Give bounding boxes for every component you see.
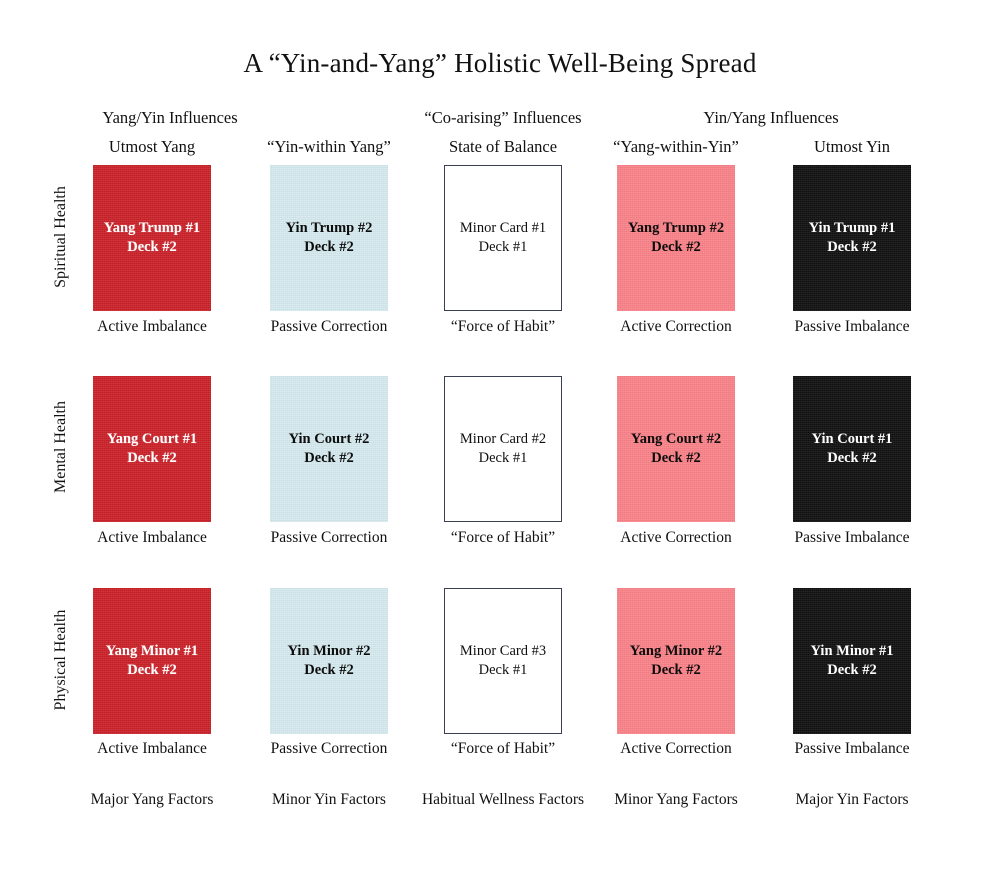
card-line-1: Yang Trump #2	[628, 219, 724, 238]
card-line-1: Yin Minor #2	[288, 642, 371, 661]
column-header-utmost-yin: Utmost Yin	[757, 137, 947, 157]
card-text: Minor Card #1 Deck #1	[457, 219, 549, 256]
footer-habitual-wellness-factors: Habitual Wellness Factors	[415, 790, 591, 811]
card-line-2: Deck #2	[286, 238, 373, 257]
card-physical-state-of-balance[interactable]: Minor Card #3 Deck #1	[444, 588, 562, 734]
card-spiritual-yin-within-yang[interactable]: Yin Trump #2 Deck #2	[270, 165, 388, 311]
card-mental-utmost-yin[interactable]: Yin Court #1 Deck #2	[793, 376, 911, 522]
card-line-2: Deck #2	[809, 238, 896, 257]
card-line-2: Deck #2	[628, 238, 724, 257]
card-line-1: Yin Trump #1	[809, 219, 896, 238]
card-line-1: Yin Minor #1	[811, 642, 894, 661]
footer-major-yang-factors: Major Yang Factors	[57, 790, 247, 811]
caption-spiritual-utmost-yang: Active Imbalance	[57, 318, 247, 336]
card-line-1: Yang Court #1	[107, 430, 197, 449]
footer-major-yin-factors: Major Yin Factors	[757, 790, 947, 811]
group-header-row: Yang/Yin Influences “Co-arising” Influen…	[0, 108, 1000, 128]
card-text: Yang Minor #2 Deck #2	[627, 642, 725, 679]
card-line-2: Deck #2	[811, 661, 894, 680]
card-line-1: Minor Card #1	[460, 219, 546, 238]
card-text: Yin Court #1 Deck #2	[809, 430, 896, 467]
caption-mental-state-of-balance: “Force of Habit”	[408, 529, 598, 547]
card-text: Yang Trump #1 Deck #2	[101, 219, 203, 256]
column-header-row: Utmost Yang “Yin-within Yang” State of B…	[0, 137, 1000, 159]
card-text: Yang Trump #2 Deck #2	[625, 219, 727, 256]
caption-spiritual-utmost-yin: Passive Imbalance	[757, 318, 947, 336]
card-text: Yang Court #2 Deck #2	[628, 430, 724, 467]
card-line-1: Yin Court #1	[812, 430, 893, 449]
caption-spiritual-yin-within-yang: Passive Correction	[234, 318, 424, 336]
caption-physical-utmost-yin: Passive Imbalance	[757, 740, 947, 758]
card-line-1: Yang Minor #1	[106, 642, 198, 661]
card-line-2: Deck #1	[460, 449, 546, 468]
card-physical-yin-within-yang[interactable]: Yin Minor #2 Deck #2	[270, 588, 388, 734]
card-text: Yin Trump #1 Deck #2	[806, 219, 899, 256]
footer-minor-yin-factors: Minor Yin Factors	[234, 790, 424, 811]
caption-mental-utmost-yang: Active Imbalance	[57, 529, 247, 547]
card-mental-utmost-yang[interactable]: Yang Court #1 Deck #2	[93, 376, 211, 522]
card-spiritual-state-of-balance[interactable]: Minor Card #1 Deck #1	[444, 165, 562, 311]
column-header-utmost-yang: Utmost Yang	[57, 137, 247, 157]
caption-mental-utmost-yin: Passive Imbalance	[757, 529, 947, 547]
card-line-1: Yin Court #2	[289, 430, 370, 449]
caption-physical-utmost-yang: Active Imbalance	[57, 740, 247, 758]
card-line-2: Deck #2	[288, 661, 371, 680]
card-text: Yang Court #1 Deck #2	[104, 430, 200, 467]
card-text: Yin Minor #1 Deck #2	[808, 642, 897, 679]
page-title: A “Yin-and-Yang” Holistic Well-Being Spr…	[0, 48, 1000, 79]
caption-mental-yin-within-yang: Passive Correction	[234, 529, 424, 547]
card-text: Yang Minor #1 Deck #2	[103, 642, 201, 679]
card-line-1: Yang Trump #1	[104, 219, 200, 238]
card-line-1: Yang Court #2	[631, 430, 721, 449]
card-line-1: Yang Minor #2	[630, 642, 722, 661]
card-line-1: Yin Trump #2	[286, 219, 373, 238]
caption-spiritual-state-of-balance: “Force of Habit”	[408, 318, 598, 336]
column-header-state-of-balance: State of Balance	[408, 137, 598, 157]
row-label-mental-health: Mental Health	[52, 372, 74, 522]
card-line-2: Deck #2	[631, 449, 721, 468]
caption-physical-yin-within-yang: Passive Correction	[234, 740, 424, 758]
card-line-2: Deck #2	[107, 449, 197, 468]
card-physical-yang-within-yin[interactable]: Yang Minor #2 Deck #2	[617, 588, 735, 734]
card-text: Yin Trump #2 Deck #2	[283, 219, 376, 256]
card-mental-state-of-balance[interactable]: Minor Card #2 Deck #1	[444, 376, 562, 522]
row-label-physical-health: Physical Health	[52, 585, 74, 735]
card-text: Minor Card #2 Deck #1	[457, 430, 549, 467]
spread-diagram: A “Yin-and-Yang” Holistic Well-Being Spr…	[0, 0, 1000, 884]
caption-mental-yang-within-yin: Active Correction	[581, 529, 771, 547]
card-line-1: Minor Card #2	[460, 430, 546, 449]
card-line-2: Deck #1	[460, 238, 546, 257]
card-spiritual-utmost-yin[interactable]: Yin Trump #1 Deck #2	[793, 165, 911, 311]
card-line-2: Deck #1	[460, 661, 546, 680]
column-header-yang-within-yin: “Yang-within-Yin”	[581, 137, 771, 157]
group-header-co-arising: “Co-arising” Influences	[408, 108, 598, 128]
card-line-1: Minor Card #3	[460, 642, 546, 661]
row-label-spiritual-health: Spiritual Health	[52, 162, 74, 312]
card-spiritual-yang-within-yin[interactable]: Yang Trump #2 Deck #2	[617, 165, 735, 311]
card-text: Minor Card #3 Deck #1	[457, 642, 549, 679]
group-header-yin-yang: Yin/Yang Influences	[676, 108, 866, 128]
caption-physical-yang-within-yin: Active Correction	[581, 740, 771, 758]
card-mental-yin-within-yang[interactable]: Yin Court #2 Deck #2	[270, 376, 388, 522]
caption-spiritual-yang-within-yin: Active Correction	[581, 318, 771, 336]
footer-minor-yang-factors: Minor Yang Factors	[581, 790, 771, 811]
card-line-2: Deck #2	[812, 449, 893, 468]
card-spiritual-utmost-yang[interactable]: Yang Trump #1 Deck #2	[93, 165, 211, 311]
caption-physical-state-of-balance: “Force of Habit”	[408, 740, 598, 758]
card-text: Yin Minor #2 Deck #2	[285, 642, 374, 679]
card-line-2: Deck #2	[104, 238, 200, 257]
card-line-2: Deck #2	[630, 661, 722, 680]
card-line-2: Deck #2	[106, 661, 198, 680]
card-line-2: Deck #2	[289, 449, 370, 468]
group-header-yang-yin: Yang/Yin Influences	[75, 108, 265, 128]
card-text: Yin Court #2 Deck #2	[286, 430, 373, 467]
card-physical-utmost-yin[interactable]: Yin Minor #1 Deck #2	[793, 588, 911, 734]
card-physical-utmost-yang[interactable]: Yang Minor #1 Deck #2	[93, 588, 211, 734]
column-header-yin-within-yang: “Yin-within Yang”	[234, 137, 424, 157]
card-mental-yang-within-yin[interactable]: Yang Court #2 Deck #2	[617, 376, 735, 522]
